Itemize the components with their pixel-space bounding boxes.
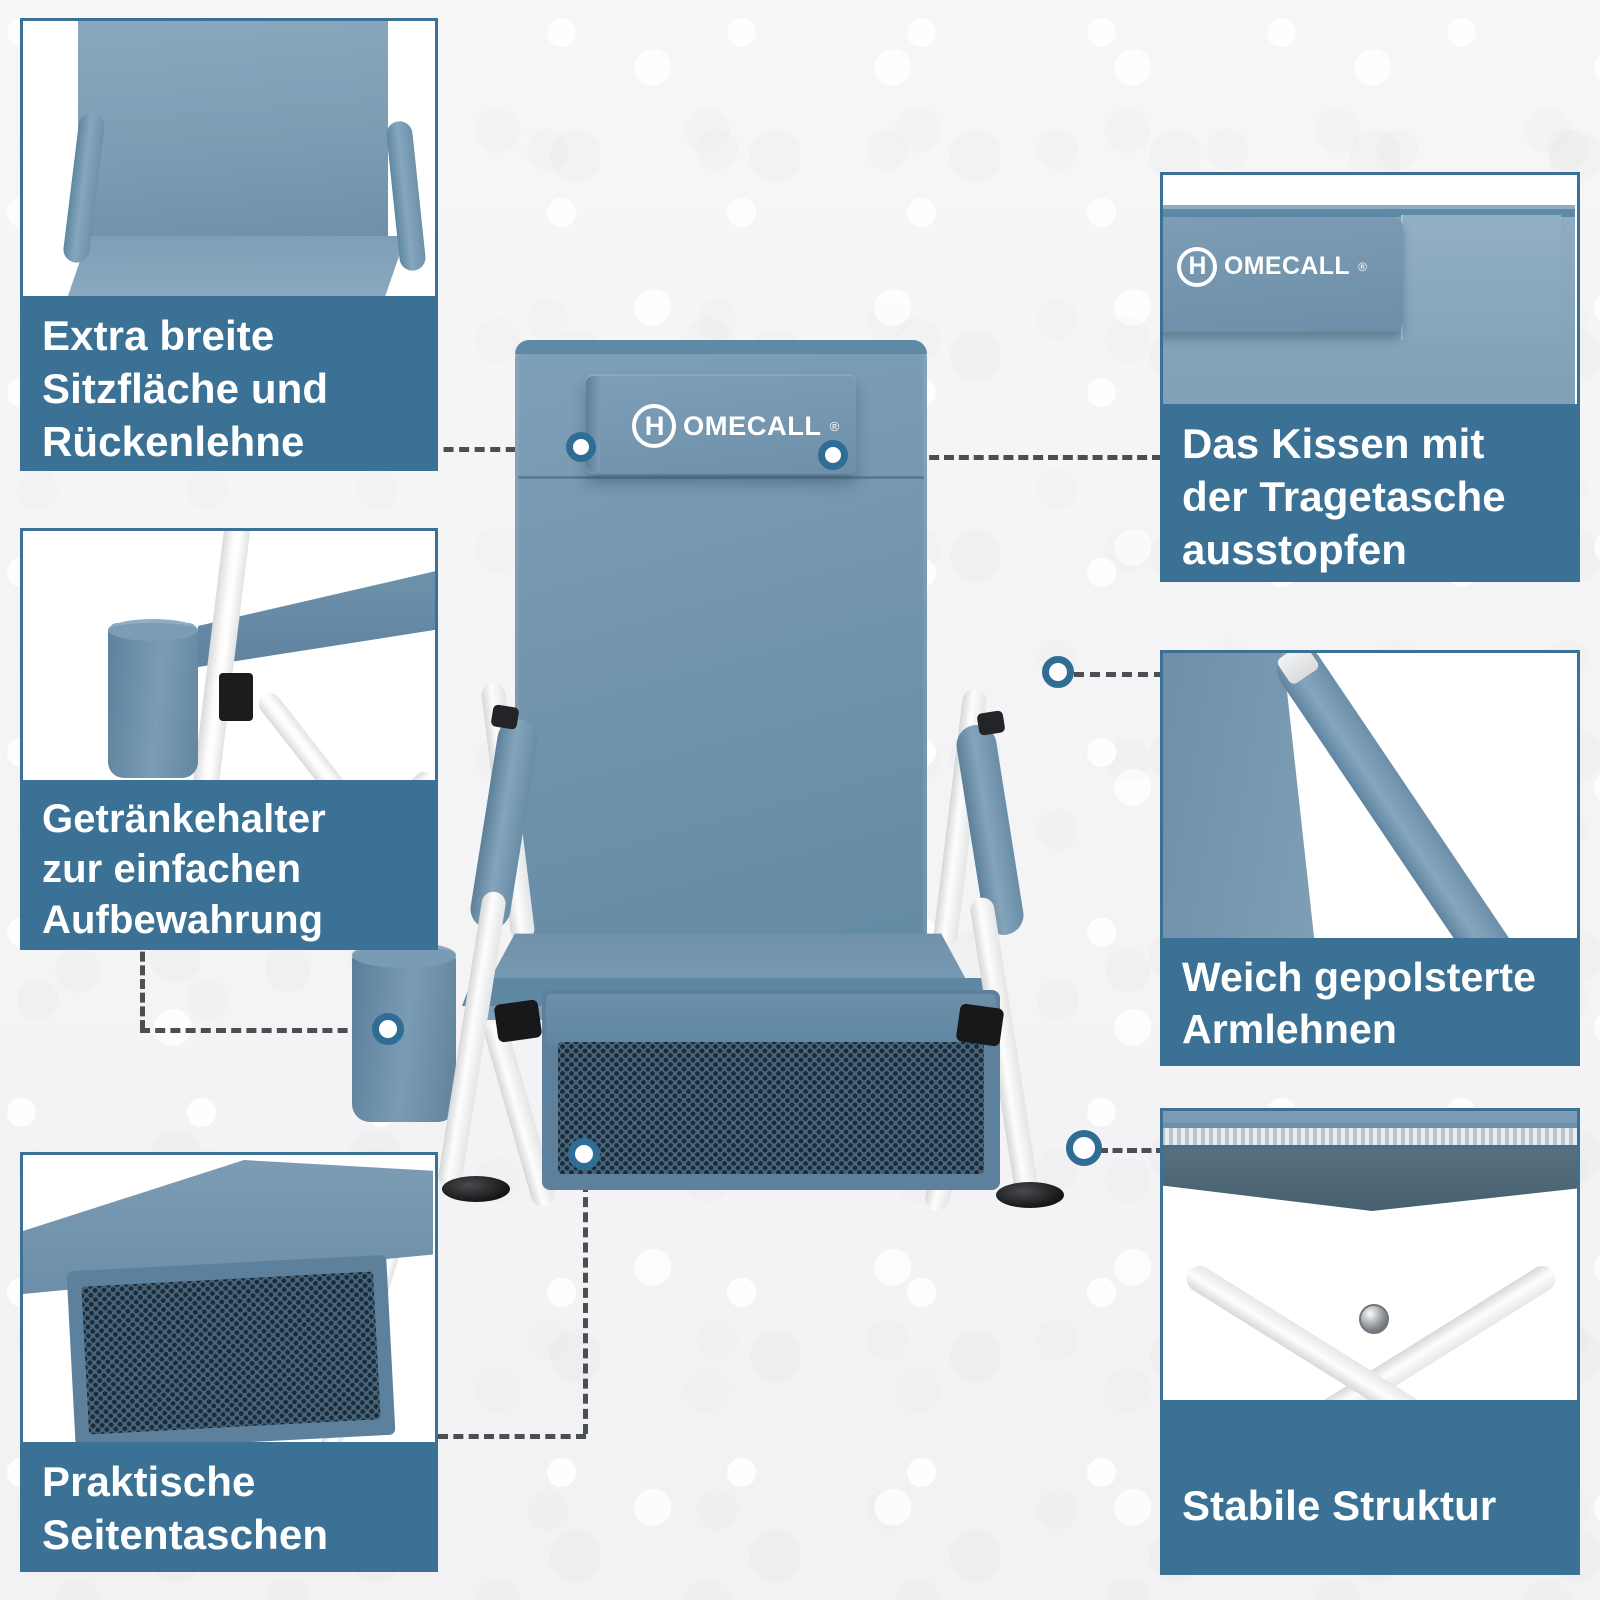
chair-cup-holder bbox=[352, 950, 456, 1122]
feature-card-wide-seat[interactable]: Extra breite Sitzfläche und Rückenlehne bbox=[20, 18, 438, 471]
photo-backrest bbox=[78, 18, 388, 241]
feature-label-side-pockets: Praktische Seitentaschen bbox=[20, 1442, 438, 1572]
hotspot-side-pocket[interactable] bbox=[568, 1138, 600, 1170]
photo-frame-brace-1 bbox=[255, 689, 414, 780]
label-line-3: ausstopfen bbox=[1182, 524, 1558, 577]
chair-backrest-hem bbox=[515, 340, 927, 354]
brand-wordmark: OMECALL bbox=[1224, 253, 1350, 281]
chair-backrest-stitch bbox=[518, 476, 924, 479]
feature-label-wide-seat: Extra breite Sitzfläche und Rückenlehne bbox=[20, 296, 438, 471]
label-line-3: Rückenlehne bbox=[42, 416, 416, 469]
feature-card-cup-holder[interactable]: Getränkehalter zur einfachen Aufbewahrun… bbox=[20, 528, 438, 950]
feature-photo-wide-seat bbox=[20, 18, 438, 296]
feature-photo-cup-holder bbox=[20, 528, 438, 780]
connector-pocket-horizontal bbox=[438, 1434, 586, 1439]
photo-zipper bbox=[1160, 1123, 1580, 1149]
chair-foot-left bbox=[442, 1176, 510, 1202]
feature-card-side-pockets[interactable]: Praktische Seitentaschen bbox=[20, 1152, 438, 1572]
label-line-1: Getränkehalter bbox=[42, 794, 416, 844]
feature-photo-padded-armrests bbox=[1160, 650, 1580, 938]
label-line-2: Armlehnen bbox=[1182, 1004, 1558, 1056]
product-image-campingstuhl: H OMECALL ® bbox=[400, 330, 1160, 1260]
registered-symbol: ® bbox=[830, 419, 840, 434]
feature-label-stable-frame: Stabile Struktur bbox=[1160, 1400, 1580, 1575]
label-line-2: der Tragetasche bbox=[1182, 471, 1558, 524]
label-line-2: zur einfachen bbox=[42, 844, 416, 894]
hotspot-cup-holder[interactable] bbox=[372, 1013, 404, 1045]
feature-card-stable-frame[interactable]: Stabile Struktur bbox=[1160, 1108, 1580, 1575]
feature-photo-pillow-pouch: H OMECALL ® bbox=[1160, 172, 1580, 404]
photo-cup-holder bbox=[108, 623, 198, 778]
feature-label-pillow-pouch: Das Kissen mit der Tragetasche ausstopfe… bbox=[1160, 404, 1580, 582]
connector-cupholder-vertical bbox=[140, 938, 145, 1030]
brand-mark-ring: H bbox=[632, 404, 676, 448]
hotspot-stable-frame[interactable] bbox=[1066, 1130, 1102, 1166]
chair-armrest-cap-left bbox=[490, 704, 519, 730]
chair-foot-right bbox=[996, 1182, 1064, 1208]
hotspot-pillow[interactable] bbox=[818, 440, 848, 470]
chair-side-pocket-band bbox=[546, 994, 996, 1046]
brand-logo-chair: H OMECALL ® bbox=[632, 404, 839, 448]
chair-armrest-cap-right bbox=[976, 710, 1005, 736]
chair-hinge-left bbox=[494, 999, 543, 1043]
photo-cup-holder-rim bbox=[108, 619, 198, 641]
brand-mark-ring: H bbox=[1177, 247, 1217, 287]
chair-hinge-right bbox=[956, 1003, 1005, 1047]
label-line-2: Sitzfläche und bbox=[42, 363, 416, 416]
label-line-3: Aufbewahrung bbox=[42, 895, 416, 945]
photo-clip bbox=[219, 673, 253, 721]
label-line-1: Weich gepolsterte bbox=[1182, 952, 1558, 1004]
label-line-2: Seitentaschen bbox=[42, 1509, 416, 1562]
connector-cupholder-horizontal bbox=[140, 1028, 378, 1033]
feature-card-padded-armrests[interactable]: Weich gepolsterte Armlehnen bbox=[1160, 650, 1580, 1066]
photo-pouch-flap bbox=[1401, 215, 1561, 340]
feature-photo-stable-frame bbox=[1160, 1108, 1580, 1400]
feature-label-cup-holder: Getränkehalter zur einfachen Aufbewahrun… bbox=[20, 780, 438, 950]
label-line-1: Praktische bbox=[42, 1456, 416, 1509]
registered-symbol: ® bbox=[1358, 260, 1367, 274]
brand-logo-photo: H OMECALL ® bbox=[1177, 247, 1367, 287]
feature-photo-side-pockets bbox=[20, 1152, 438, 1442]
photo-seat bbox=[61, 236, 406, 296]
photo-under-fabric bbox=[1160, 1149, 1580, 1211]
chair-side-pocket-mesh bbox=[558, 1042, 984, 1174]
feature-label-padded-armrests: Weich gepolsterte Armlehnen bbox=[1160, 938, 1580, 1066]
label-line-1: Stabile Struktur bbox=[1182, 1480, 1496, 1533]
label-line-1: Extra breite bbox=[42, 310, 416, 363]
photo-rivet bbox=[1359, 1304, 1389, 1334]
feature-card-pillow-pouch[interactable]: H OMECALL ® Das Kissen mit der Tragetasc… bbox=[1160, 172, 1580, 582]
photo-pocket-mesh bbox=[81, 1271, 380, 1434]
hotspot-armrest[interactable] bbox=[1042, 656, 1074, 688]
hotspot-wide-seat[interactable] bbox=[566, 432, 596, 462]
label-line-1: Das Kissen mit bbox=[1182, 418, 1558, 471]
brand-wordmark: OMECALL bbox=[683, 410, 822, 442]
